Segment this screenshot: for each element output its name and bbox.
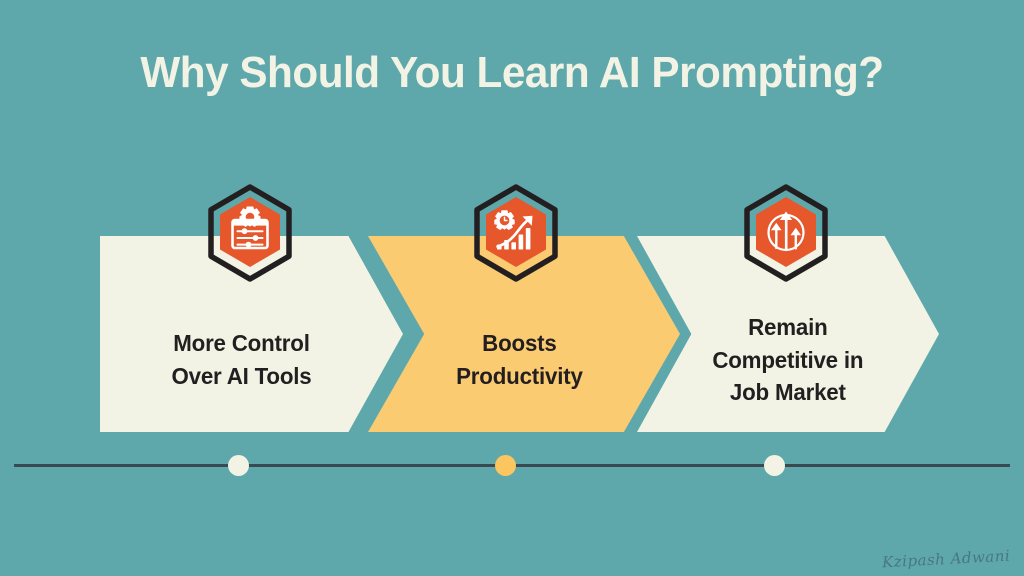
- step-label-line-2: Over AI Tools: [172, 363, 312, 389]
- infographic-canvas: Why Should You Learn AI Prompting? More …: [0, 0, 1024, 576]
- step-label-line-1: Remain: [748, 314, 827, 340]
- step-label-line-2: Productivity: [456, 363, 583, 389]
- step-label-line-2: Competitive in: [712, 347, 863, 373]
- step-label: More Control Over AI Tools: [162, 275, 341, 392]
- step-icon-badge-boosts-productivity: [472, 184, 560, 282]
- page-title: Why Should You Learn AI Prompting?: [20, 48, 1003, 98]
- step-icon-badge-more-control: [206, 184, 294, 282]
- step-icon-badge-remain-competitive: [742, 184, 830, 282]
- timeline-dot-3[interactable]: [764, 455, 785, 476]
- step-label-line-1: Boosts: [482, 330, 556, 356]
- signature-watermark: Kzipash Adwani: [881, 547, 1010, 572]
- step-label: Boosts Productivity: [431, 275, 618, 392]
- timeline-dot-2-active[interactable]: [495, 455, 516, 476]
- step-label-line-3: Job Market: [730, 379, 846, 405]
- timeline-dot-1[interactable]: [228, 455, 249, 476]
- step-label-line-1: More Control: [174, 330, 310, 356]
